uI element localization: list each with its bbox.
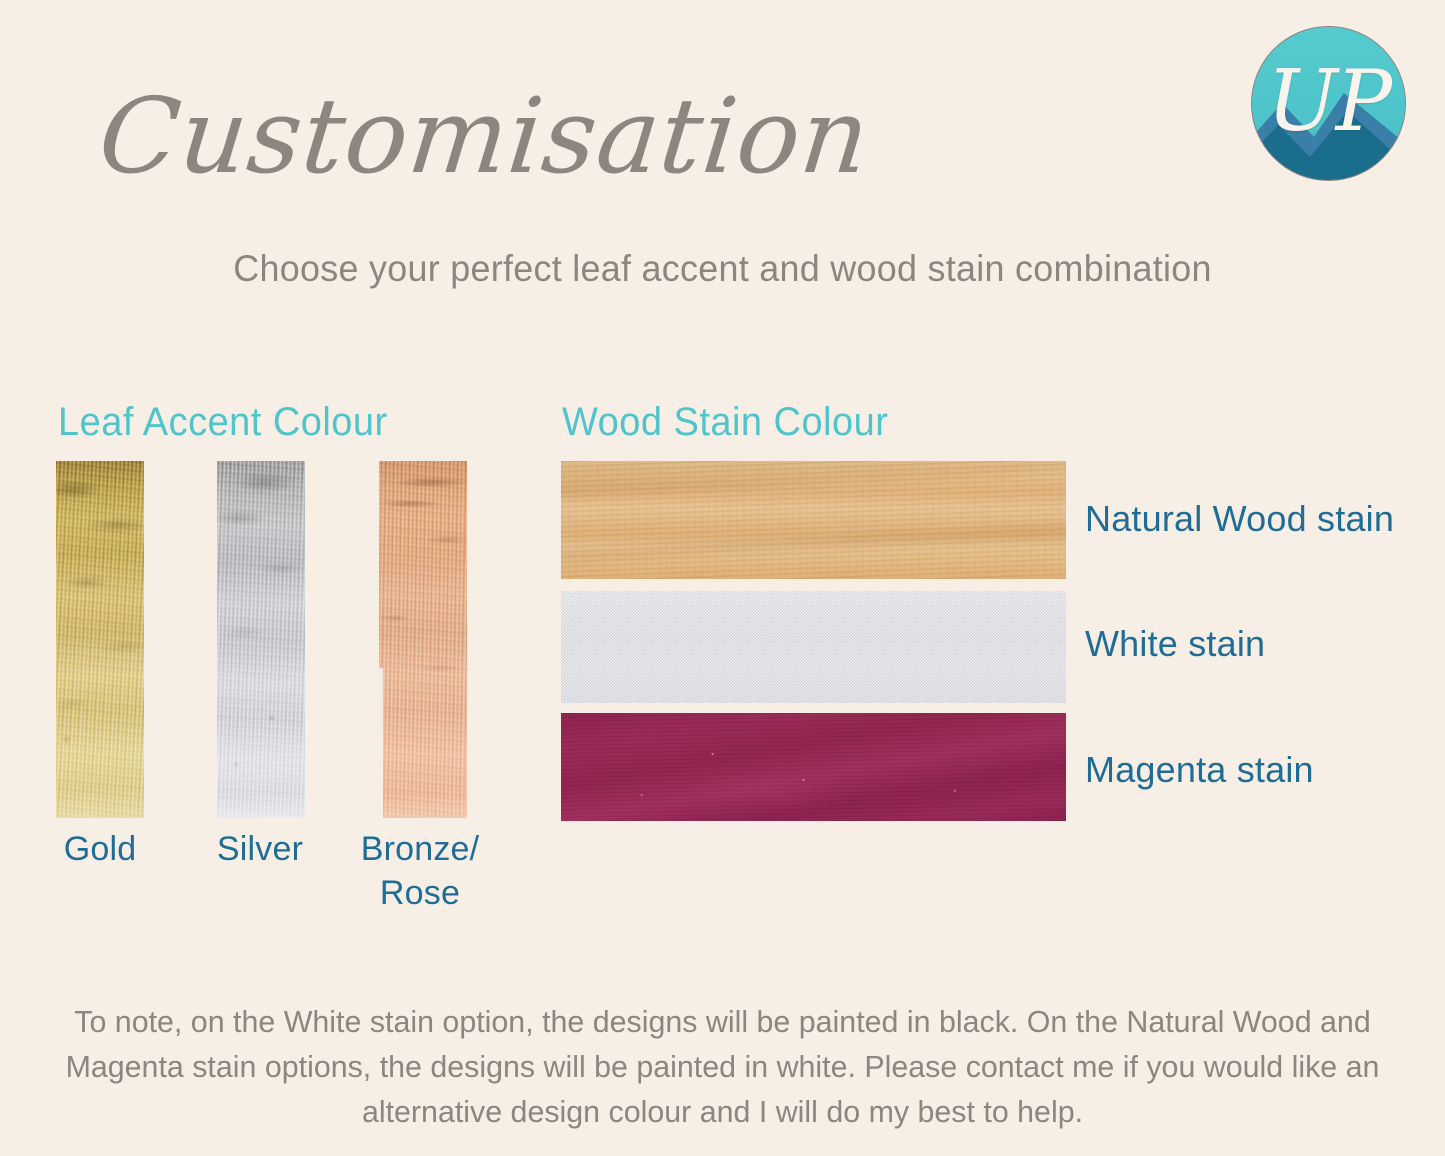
swatch-wood-magenta[interactable] — [561, 713, 1066, 821]
swatch-label-silver: Silver — [180, 828, 340, 872]
swatch-leaf-silver[interactable] — [217, 461, 305, 818]
swatch-label-natural-wood-stain: Natural Wood stain — [1085, 498, 1394, 540]
swatch-shading — [56, 461, 144, 818]
swatch-shading — [217, 461, 305, 818]
brand-logo: UP — [1252, 27, 1405, 180]
swatch-wood-natural[interactable] — [561, 461, 1066, 579]
swatch-leaf-bronze-rose[interactable] — [379, 461, 467, 818]
section-heading-leaf-accent: Leaf Accent Colour — [58, 400, 388, 445]
footer-note: To note, on the White stain option, the … — [54, 1000, 1392, 1135]
swatch-texture — [561, 461, 1066, 579]
logo-text: UP — [1252, 27, 1405, 180]
page-subtitle: Choose your perfect leaf accent and wood… — [22, 248, 1424, 290]
swatch-texture — [561, 591, 1066, 703]
swatch-label-magenta-stain: Magenta stain — [1085, 749, 1314, 791]
swatch-wood-white[interactable] — [561, 591, 1066, 703]
swatch-edge-highlight — [379, 668, 383, 818]
swatch-label-gold: Gold — [20, 828, 180, 872]
section-heading-wood-stain: Wood Stain Colour — [562, 400, 888, 445]
swatch-leaf-gold[interactable] — [56, 461, 144, 818]
swatch-label-bronze-rose: Bronze/Rose — [340, 828, 500, 915]
page-title: Customisation — [95, 84, 875, 188]
swatch-texture — [561, 713, 1066, 821]
swatch-shading — [379, 461, 467, 818]
swatch-label-white-stain: White stain — [1085, 623, 1265, 665]
